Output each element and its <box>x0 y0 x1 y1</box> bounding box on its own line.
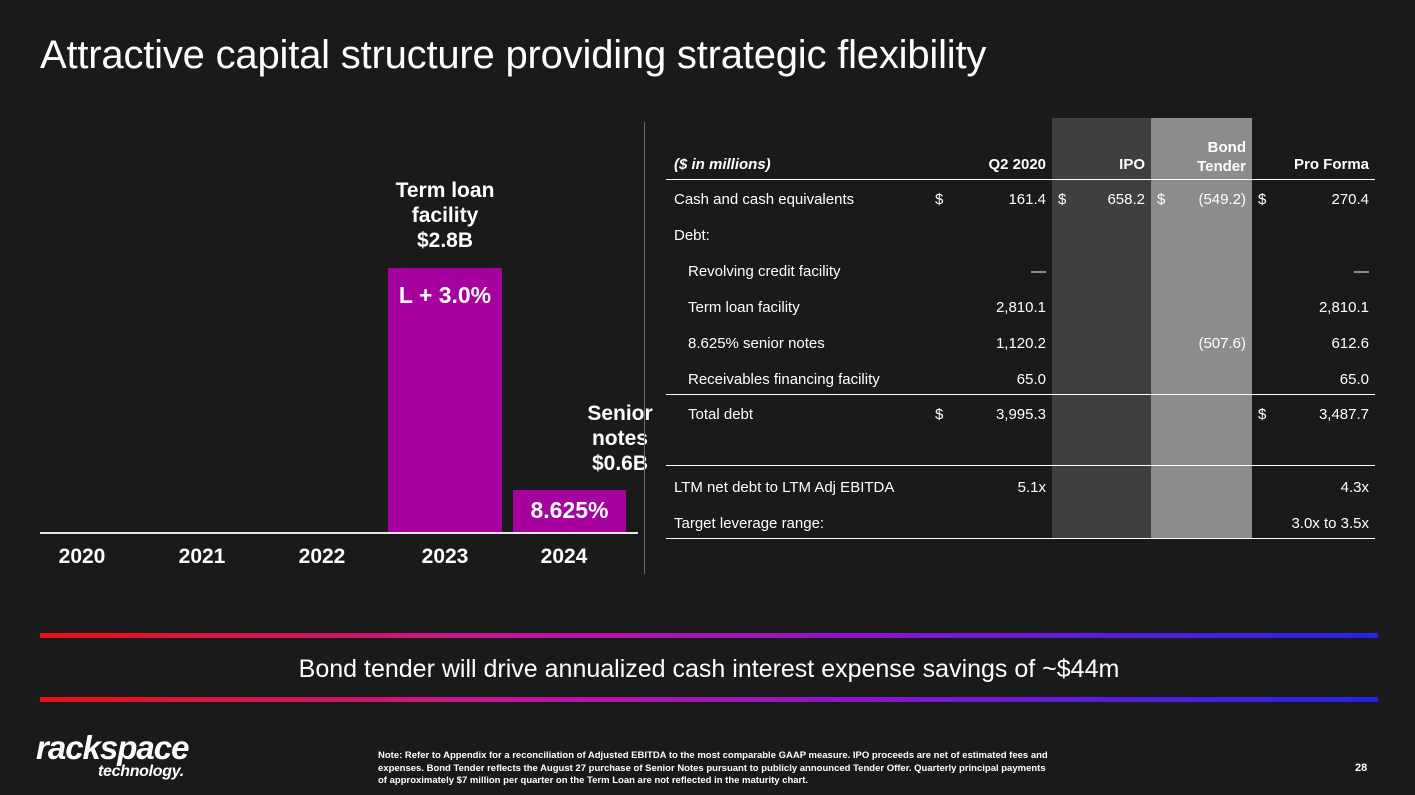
column-header-bond-tender-line1: Bond <box>1157 138 1246 157</box>
row-label-revolving-credit-facility: Revolving credit facility <box>688 263 841 280</box>
banner-divider-bottom <box>40 697 1378 702</box>
table-row[interactable]: 8.625% senior notes 1,120.2 (507.6) 612.… <box>666 326 1375 362</box>
bar-caption-term-loan-line3: $2.8B <box>370 228 520 253</box>
capital-structure-table: ($ in millions) Q2 2020 IPO Bond Tender … <box>666 118 1375 543</box>
column-header-bond-tender-line2: Tender <box>1157 157 1246 176</box>
banner-text: Bond tender will drive annualized cash i… <box>40 655 1378 684</box>
table-row[interactable]: Total debt $ 3,995.3 $ 3,487.7 <box>666 397 1375 433</box>
banner-divider-top <box>40 633 1378 638</box>
cell-bond-tender-cash: (549.2) <box>1157 191 1246 208</box>
cell-pro-forma-ltm-net-debt: 4.3x <box>1258 479 1369 496</box>
column-header-bond-tender: Bond Tender <box>1157 138 1246 176</box>
cell-q2-revolving: — <box>935 263 1046 280</box>
cell-pro-forma-receivables: 65.0 <box>1258 371 1369 388</box>
chart-table-divider <box>644 122 645 574</box>
column-header-q2-2020: Q2 2020 <box>935 156 1046 173</box>
cell-q2-cash: 161.4 <box>935 191 1046 208</box>
axis-label-2023: 2023 <box>385 545 505 569</box>
cell-ipo-cash: 658.2 <box>1058 191 1145 208</box>
row-label-total-debt: Total debt <box>688 406 753 423</box>
table-row[interactable]: Revolving credit facility — — <box>666 254 1375 290</box>
table-row[interactable]: LTM net debt to LTM Adj EBITDA 5.1x 4.3x <box>666 470 1375 506</box>
page-number: 28 <box>1355 762 1367 774</box>
rackspace-logo: rackspace technology. <box>36 729 226 785</box>
cell-pro-forma-senior-notes: 612.6 <box>1258 335 1369 352</box>
table-units-label: ($ in millions) <box>674 156 771 173</box>
cell-q2-term-loan: 2,810.1 <box>935 299 1046 316</box>
bar-label-senior-notes-rate: 8.625% <box>513 497 626 524</box>
bar-senior-notes[interactable]: 8.625% <box>513 490 626 532</box>
table-row[interactable]: Receivables financing facility 65.0 65.0 <box>666 362 1375 398</box>
table-total-debt-rule <box>666 394 1375 395</box>
cell-q2-ltm-net-debt: 5.1x <box>935 479 1046 496</box>
axis-label-2024: 2024 <box>504 545 624 569</box>
column-header-ipo: IPO <box>1058 156 1145 173</box>
row-label-target-leverage-range: Target leverage range: <box>674 515 824 532</box>
table-row[interactable]: Cash and cash equivalents $ 161.4 $ 658.… <box>666 182 1375 218</box>
cell-pro-forma-revolving: — <box>1258 263 1369 280</box>
bar-label-term-loan-rate: L + 3.0% <box>388 282 502 309</box>
logo-wordmark: rackspace <box>36 729 188 767</box>
row-label-debt-section: Debt: <box>674 227 710 244</box>
table-row: Debt: <box>666 218 1375 254</box>
row-label-ltm-net-debt: LTM net debt to LTM Adj EBITDA <box>674 479 894 496</box>
cell-pro-forma-total-debt: 3,487.7 <box>1258 406 1369 423</box>
axis-label-2021: 2021 <box>142 545 262 569</box>
chart-axis-line <box>40 532 638 534</box>
table-leverage-rule <box>666 465 1375 466</box>
row-label-senior-notes: 8.625% senior notes <box>688 335 825 352</box>
cell-q2-senior-notes: 1,120.2 <box>935 335 1046 352</box>
table-row[interactable]: Target leverage range: 3.0x to 3.5x <box>666 506 1375 542</box>
table-header-rule <box>666 179 1375 180</box>
bar-caption-term-loan-line2: facility <box>370 203 520 228</box>
cell-pro-forma-term-loan: 2,810.1 <box>1258 299 1369 316</box>
cell-pro-forma-target-leverage-range: 3.0x to 3.5x <box>1258 515 1369 532</box>
page-title: Attractive capital structure providing s… <box>40 33 986 78</box>
cell-pro-forma-cash: 270.4 <box>1258 191 1369 208</box>
axis-label-2020: 2020 <box>22 545 142 569</box>
cell-q2-total-debt: 3,995.3 <box>935 406 1046 423</box>
column-header-pro-forma: Pro Forma <box>1258 156 1369 173</box>
bar-caption-term-loan: Term loan facility $2.8B <box>370 178 520 253</box>
maturity-bar-chart: Term loan facility $2.8B L + 3.0% Senior… <box>40 120 640 580</box>
row-label-receivables-financing-facility: Receivables financing facility <box>688 371 880 388</box>
bar-caption-term-loan-line1: Term loan <box>370 178 520 203</box>
footnote-text: Note: Refer to Appendix for a reconcilia… <box>378 750 1050 788</box>
table-row[interactable]: Term loan facility 2,810.1 2,810.1 <box>666 290 1375 326</box>
logo-tagline: technology. <box>98 763 184 781</box>
cell-bond-tender-senior-notes: (507.6) <box>1157 335 1246 352</box>
table-bottom-rule <box>666 538 1375 539</box>
cell-q2-receivables: 65.0 <box>935 371 1046 388</box>
axis-label-2022: 2022 <box>262 545 382 569</box>
row-label-cash: Cash and cash equivalents <box>674 191 854 208</box>
bar-term-loan-facility[interactable]: L + 3.0% <box>388 268 502 532</box>
row-label-term-loan-facility: Term loan facility <box>688 299 800 316</box>
